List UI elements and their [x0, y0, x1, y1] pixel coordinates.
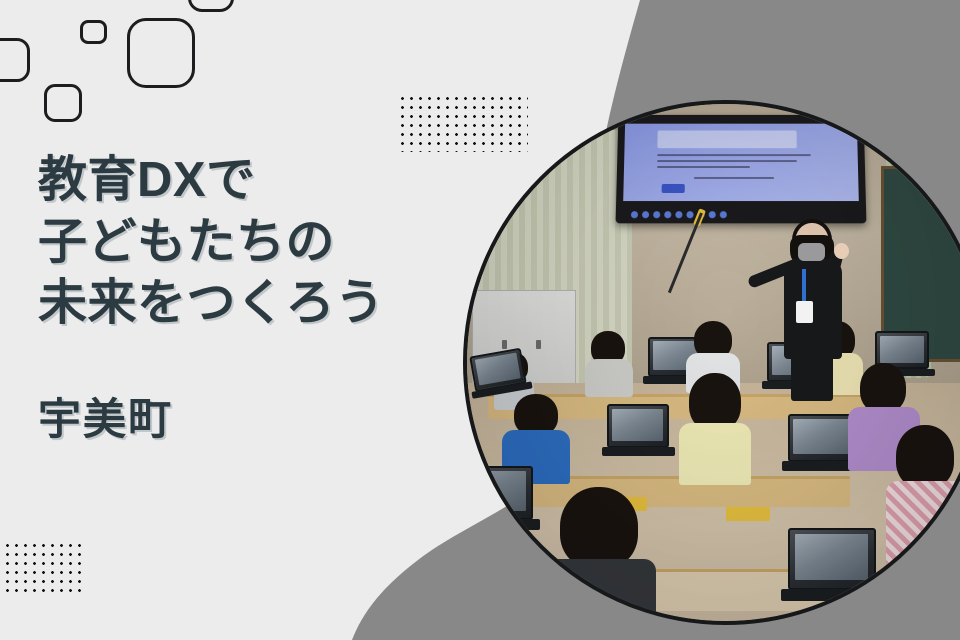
- photo-tone-overlay: [467, 104, 960, 621]
- page-title: 教育DXで 子どもたちの 未来をつくろう: [38, 150, 468, 335]
- teacher-lanyard: [802, 269, 806, 303]
- rounded-square-icon-4: [127, 18, 195, 88]
- subtitle-municipality: 宇美町: [38, 397, 468, 444]
- decoration-rounded-squares: [0, 0, 300, 140]
- rounded-square-icon-3: [80, 20, 107, 44]
- poster-canvas: 教育DXで 子どもたちの 未来をつくろう 宇美町: [0, 0, 960, 640]
- rounded-square-icon-5: [188, 0, 234, 12]
- rounded-square-icon-2: [44, 84, 82, 122]
- text-block: 教育DXで 子どもたちの 未来をつくろう 宇美町: [38, 150, 468, 445]
- teacher-id-badge: [796, 301, 813, 323]
- rounded-square-icon-1: [0, 38, 30, 82]
- classroom-photo: [463, 100, 960, 625]
- teacher-legs: [791, 355, 833, 401]
- teacher-face-mask: [798, 243, 825, 261]
- dot-grid-bottom-decoration: [0, 541, 86, 597]
- teacher-hand: [834, 243, 849, 259]
- classroom-photo-inner: [467, 104, 960, 621]
